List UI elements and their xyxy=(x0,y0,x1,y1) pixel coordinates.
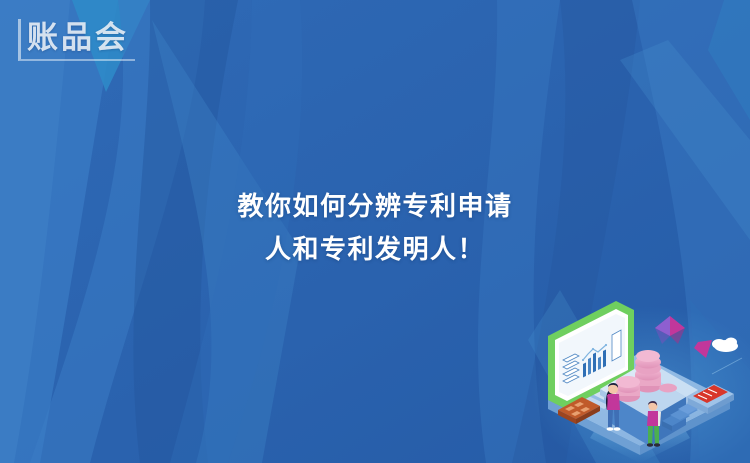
floating-gem xyxy=(655,316,685,344)
site-logo-text: 账品会 xyxy=(27,23,129,54)
cloud-icon xyxy=(712,338,738,353)
article-banner: 账品会 教你如何分辨专利申请 人和专利发明人！ xyxy=(0,0,750,463)
screen-side-panel xyxy=(612,330,621,361)
page-title-line-2: 人和专利发明人！ xyxy=(0,229,750,272)
connector-line xyxy=(712,358,742,374)
pink-shard xyxy=(694,340,712,358)
site-logo[interactable]: 账品会 xyxy=(18,19,135,61)
page-title-line-1: 教你如何分辨专利申请 xyxy=(0,186,750,229)
page-title: 教你如何分辨专利申请 人和专利发明人！ xyxy=(0,186,750,272)
isometric-illustration xyxy=(530,288,750,463)
